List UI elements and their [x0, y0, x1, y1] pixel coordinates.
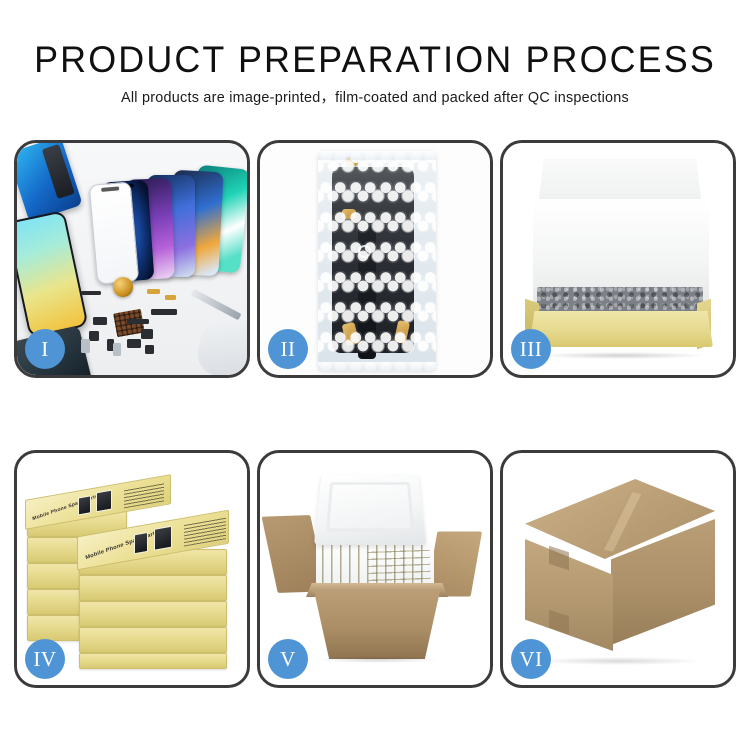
- small-part-icon: [127, 339, 141, 348]
- small-part-icon: [141, 329, 153, 339]
- step-badge-2: II: [268, 329, 308, 369]
- retail-box-icon: [79, 601, 227, 627]
- product-preparation-infographic: PRODUCT PREPARATION PROCESS All products…: [0, 0, 750, 750]
- small-part-icon: [81, 291, 101, 295]
- yellow-boxes-icon: [367, 548, 430, 588]
- box-spec-lines-icon: [124, 481, 164, 508]
- flex-cable-icon: [127, 319, 149, 324]
- page-subtitle: All products are image-printed，film-coat…: [0, 89, 750, 108]
- box-spec-lines-icon: [184, 517, 226, 546]
- small-part-icon: [81, 339, 90, 353]
- step-badge-4: IV: [25, 639, 65, 679]
- page-title: PRODUCT PREPARATION PROCESS: [11, 38, 739, 82]
- box-window-icon: [134, 532, 148, 554]
- small-part-icon: [147, 289, 160, 294]
- header: PRODUCT PREPARATION PROCESS All products…: [0, 38, 750, 108]
- small-part-icon: [113, 343, 121, 356]
- process-step-panel-4[interactable]: Mobile Phone Spare Parts Mobile Phone Sp…: [14, 450, 250, 688]
- flex-cable-icon: [151, 309, 177, 315]
- step-badge-6: VI: [511, 639, 551, 679]
- box-window-icon: [78, 495, 91, 515]
- retail-box-icon: [79, 575, 227, 601]
- process-step-panel-3[interactable]: III: [500, 140, 736, 378]
- process-step-grid: I II: [14, 140, 736, 688]
- process-step-panel-1[interactable]: I: [14, 140, 250, 378]
- small-part-icon: [165, 295, 176, 300]
- small-part-icon: [93, 317, 107, 325]
- bubble-wrap-bag-icon: [318, 151, 436, 371]
- box-window-icon: [96, 490, 112, 513]
- drop-shadow: [537, 352, 705, 359]
- screen-protector-icon: [89, 181, 140, 284]
- process-step-panel-5[interactable]: V: [257, 450, 493, 688]
- retail-box-icon: [79, 653, 227, 669]
- box-window-icon: [154, 526, 172, 551]
- small-part-icon: [145, 345, 154, 354]
- styrofoam-lid-icon: [314, 474, 426, 544]
- step-badge-3: III: [511, 329, 551, 369]
- step-badge-5: V: [268, 639, 308, 679]
- retail-box-icon: [79, 627, 227, 653]
- process-step-panel-6[interactable]: VI: [500, 450, 736, 688]
- small-part-icon: [89, 331, 99, 341]
- process-step-panel-2[interactable]: II: [257, 140, 493, 378]
- step-badge-1: I: [25, 329, 65, 369]
- drop-shadow: [537, 657, 701, 665]
- drop-shadow: [318, 656, 438, 663]
- bubble-texture-icon: [318, 151, 436, 371]
- yellow-box-front-icon: [529, 311, 713, 347]
- copper-coil-icon: [113, 277, 133, 297]
- carton-body-icon: [314, 591, 440, 659]
